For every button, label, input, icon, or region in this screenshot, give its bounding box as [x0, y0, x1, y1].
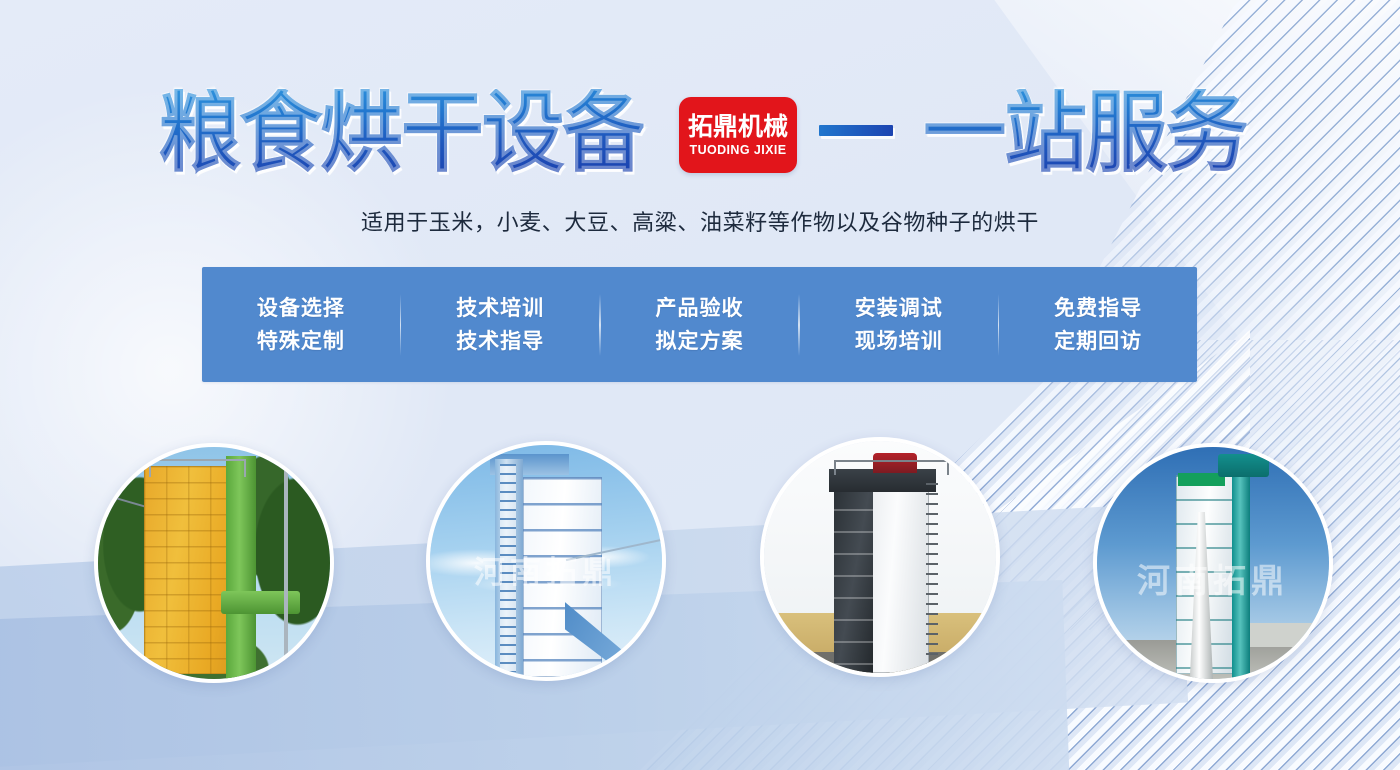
dryer-duct-stack: [834, 487, 873, 673]
promo-banner: 粮食烘干设备 拓鼎机械 TUODING JIXIE 一站服务 适用于玉米，小麦、…: [0, 0, 1400, 770]
utility-pole: [284, 470, 288, 679]
subtitle: 适用于玉米，小麦、大豆、高粱、油菜籽等作物以及谷物种子的烘干: [0, 205, 1400, 237]
feature-line2: 特殊定制: [257, 325, 345, 358]
feature-line1: 免费指导: [1054, 292, 1142, 325]
photo-4-scene: 河南拓鼎: [1097, 447, 1329, 679]
feature-line2: 定期回访: [1054, 325, 1142, 358]
feature-item-1[interactable]: 设备选择 特殊定制: [202, 292, 400, 357]
grain-elevator: [226, 456, 256, 679]
product-photo-gallery: 河南拓鼎: [0, 437, 1400, 687]
feature-item-2[interactable]: 技术培训 技术指导: [401, 292, 599, 357]
photo-watermark: 河南拓鼎: [1097, 554, 1329, 602]
product-photo-4[interactable]: 河南拓鼎: [1093, 443, 1333, 683]
headline-left-text: 粮食烘干设备: [158, 89, 643, 177]
feature-line2: 拟定方案: [655, 325, 743, 358]
product-photo-3[interactable]: [760, 437, 1000, 677]
brand-name-cn: 拓鼎机械: [688, 113, 788, 141]
feature-line1: 产品验收: [655, 292, 743, 325]
feature-line1: 设备选择: [257, 292, 345, 325]
grain-duct: [221, 591, 300, 614]
top-railing: [149, 459, 246, 477]
ladder: [926, 483, 938, 673]
feature-line2: 现场培训: [855, 325, 943, 358]
photo-1-scene: [98, 447, 330, 679]
photo-3-scene: [764, 441, 996, 673]
feature-line1: 技术培训: [456, 292, 544, 325]
dryer-body: [868, 483, 928, 673]
headline-right-text: 一站服务: [923, 89, 1246, 177]
product-photo-1[interactable]: [94, 443, 334, 683]
headline: 粮食烘干设备 拓鼎机械 TUODING JIXIE 一站服务: [0, 78, 1400, 188]
photo-2-scene: 河南拓鼎: [430, 445, 662, 677]
feature-item-5[interactable]: 免费指导 定期回访: [999, 292, 1197, 357]
product-photo-2[interactable]: 河南拓鼎: [426, 441, 666, 681]
brand-name-en: TUODING JIXIE: [690, 143, 787, 157]
photo-watermark: 河南拓鼎: [430, 547, 662, 592]
feature-item-4[interactable]: 安装调试 现场培训: [800, 292, 998, 357]
brand-logo-badge: 拓鼎机械 TUODING JIXIE: [679, 97, 797, 173]
dash-icon: [819, 125, 893, 136]
feature-item-3[interactable]: 产品验收 拟定方案: [601, 292, 799, 357]
feature-line1: 安装调试: [855, 292, 943, 325]
feature-line2: 技术指导: [456, 325, 544, 358]
top-railing: [834, 460, 949, 476]
elevator-head: [1218, 454, 1269, 477]
feature-bar: 设备选择 特殊定制 技术培训 技术指导 产品验收 拟定方案 安装调试 现场培训 …: [202, 267, 1197, 382]
